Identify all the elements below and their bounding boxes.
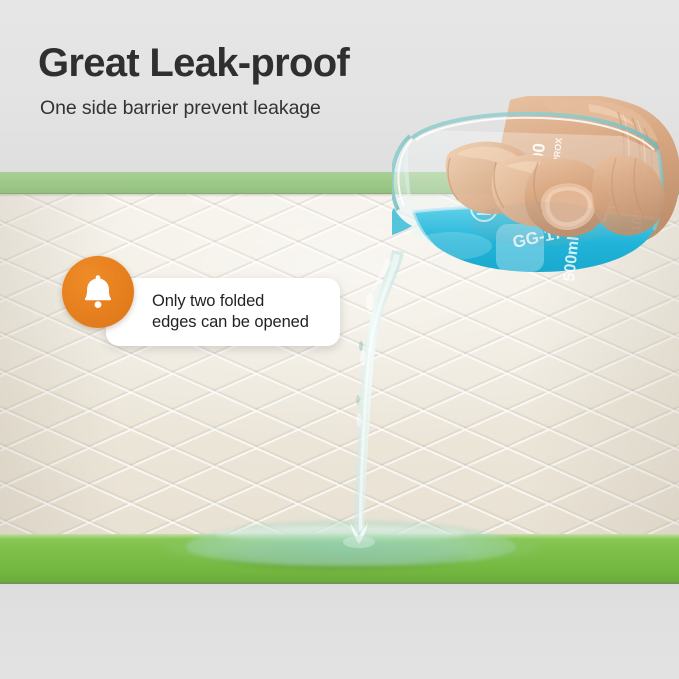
background-lower (0, 576, 679, 679)
callout-text: Only two folded edges can be opened (152, 291, 324, 332)
headline-block: Great Leak-proof One side barrier preven… (38, 40, 598, 120)
hand-holding-beaker: 500 APPROX 300 200 100 GG-17 500ml (392, 96, 679, 336)
callout-bubble: Only two folded edges can be opened (106, 278, 340, 346)
page-subtitle: One side barrier prevent leakage (40, 96, 598, 120)
product-feature-image: Great Leak-proof One side barrier preven… (0, 0, 679, 679)
pad-shade-left (0, 190, 120, 566)
page-title: Great Leak-proof (38, 40, 598, 86)
bell-icon (80, 272, 116, 312)
callout-badge (62, 256, 134, 328)
pad-drop-shadow (0, 582, 679, 584)
